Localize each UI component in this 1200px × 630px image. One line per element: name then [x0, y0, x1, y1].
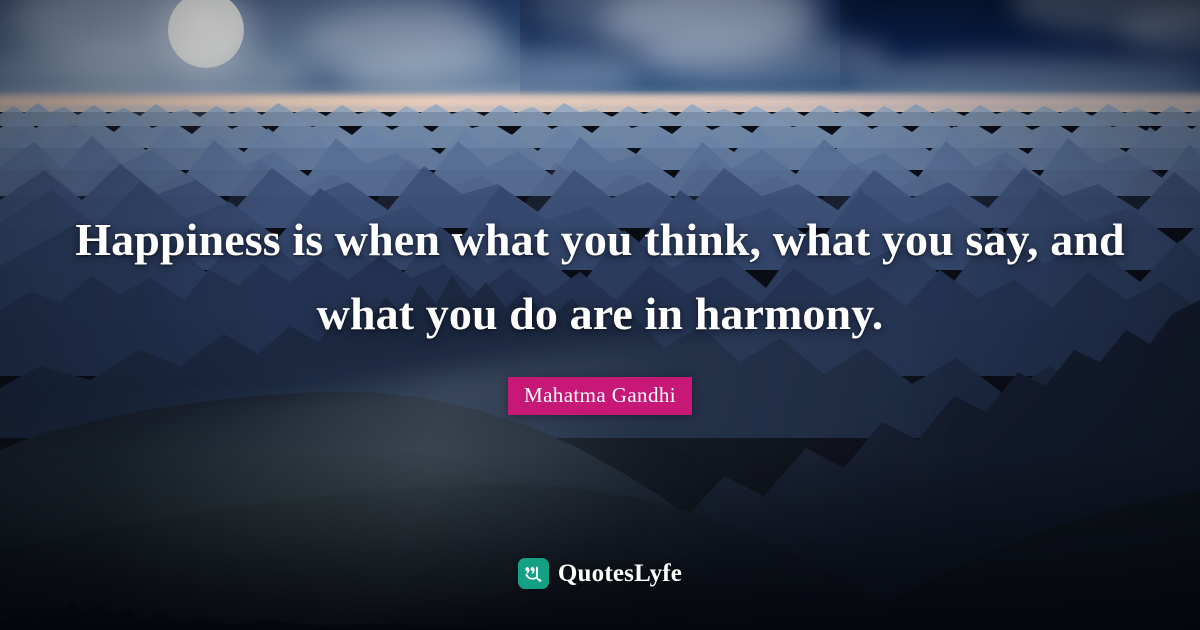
quote-smiley-icon [518, 558, 549, 589]
quote-content: Happiness is when what you think, what y… [0, 0, 1200, 630]
quote-card: Happiness is when what you think, what y… [0, 0, 1200, 630]
author-badge: Mahatma Gandhi [508, 377, 692, 415]
brand-logo[interactable]: QuotesLyfe [0, 558, 1200, 589]
quote-text: Happiness is when what you think, what y… [75, 203, 1125, 351]
author-badge-wrap: Mahatma Gandhi [508, 377, 692, 415]
brand-name: QuotesLyfe [558, 560, 682, 588]
